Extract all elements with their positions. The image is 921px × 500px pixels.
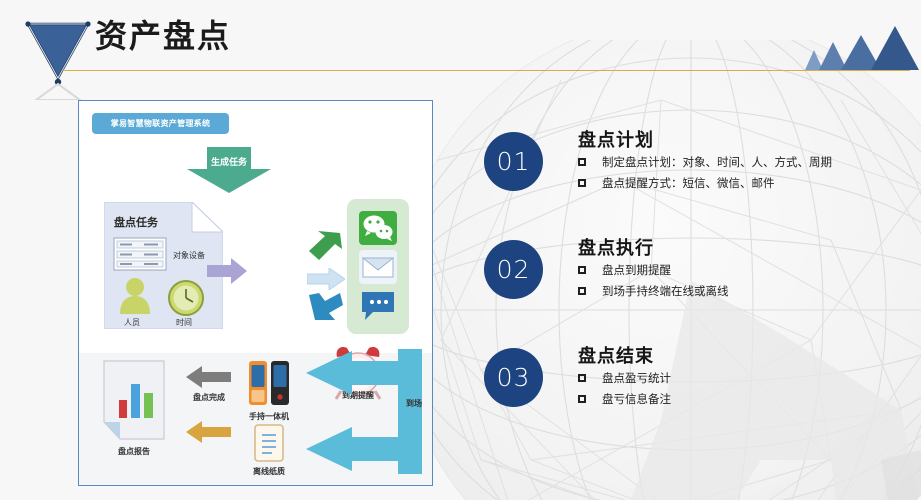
system-name-badge: 掌易智慧物联资产管理系统 xyxy=(92,113,229,134)
light-blue-right-arrow-icon xyxy=(307,268,345,290)
email-icon xyxy=(359,250,397,284)
handheld-terminal-icon xyxy=(247,359,291,407)
step-bullets: 制定盘点计划：对象、时间、人、方式、周期 盘点提醒方式：短信、微信、邮件 xyxy=(578,156,832,198)
checkbox-icon xyxy=(578,374,586,382)
list-item: 盘点盈亏统计 xyxy=(578,372,671,386)
bullet-text: 盘亏信息备注 xyxy=(602,393,671,407)
bullet-text: 盘点提醒方式：短信、微信、邮件 xyxy=(602,177,775,191)
sms-icon xyxy=(359,289,397,323)
step-title: 盘点计划 xyxy=(578,126,654,152)
slide-canvas: 资产盘点 掌易智慧物联资产管理系统 生成任务 xyxy=(0,0,921,500)
checkbox-icon xyxy=(578,287,586,295)
workflow-diagram-panel: 掌易智慧物联资产管理系统 生成任务 xyxy=(78,100,433,486)
list-item: 到场手持终端在线或离线 xyxy=(578,285,729,299)
blue-down-arrow-icon xyxy=(307,293,343,323)
report-label: 盘点报告 xyxy=(97,446,171,457)
bullet-text: 盘点盈亏统计 xyxy=(602,372,671,386)
generate-task-arrow: 生成任务 xyxy=(187,147,271,193)
list-item: 盘点提醒方式：短信、微信、邮件 xyxy=(578,177,832,191)
green-up-arrow-icon xyxy=(307,231,343,261)
bullet-text: 到场手持终端在线或离线 xyxy=(602,285,729,299)
list-item: 盘亏信息备注 xyxy=(578,393,671,407)
checkbox-icon xyxy=(578,395,586,403)
list-item: 制定盘点计划：对象、时间、人、方式、周期 xyxy=(578,156,832,170)
wechat-icon xyxy=(359,211,397,245)
offline-paper-icon xyxy=(254,424,284,462)
step-number-badge: 01 xyxy=(484,132,543,191)
handheld-label: 手持一体机 xyxy=(239,411,299,422)
step-bullets: 盘点盈亏统计 盘亏信息备注 xyxy=(578,372,671,414)
time-label: 时间 xyxy=(176,317,192,328)
generate-task-label: 生成任务 xyxy=(187,155,271,168)
inventory-report-icon xyxy=(103,360,165,440)
task-card-title: 盘点任务 xyxy=(114,214,158,230)
device-label: 对象设备 xyxy=(173,250,205,261)
bullet-text: 盘点到期提醒 xyxy=(602,264,671,278)
orange-left-arrow-icon xyxy=(186,421,231,443)
notification-channel-panel xyxy=(347,199,409,334)
inverted-triangle-logo xyxy=(18,8,98,100)
mountain-range-icon xyxy=(779,22,921,72)
person-label: 人员 xyxy=(124,317,140,328)
step-bullets: 盘点到期提醒 到场手持终端在线或离线 xyxy=(578,264,729,306)
gray-left-arrow-icon xyxy=(186,366,231,388)
checkbox-icon xyxy=(578,266,586,274)
done-label: 盘点完成 xyxy=(181,392,237,403)
bullet-text: 制定盘点计划：对象、时间、人、方式、周期 xyxy=(602,156,832,170)
checkbox-icon xyxy=(578,158,586,166)
page-title: 资产盘点 xyxy=(95,20,231,52)
inventory-task-card: 盘点任务 对象设备 人员 时间 xyxy=(104,202,223,329)
step-number-badge: 03 xyxy=(484,348,543,407)
paper-label: 离线纸质 xyxy=(239,466,299,477)
purple-right-arrow-icon xyxy=(207,258,247,284)
step-title: 盘点结束 xyxy=(578,342,654,368)
arrive-flow-arrow xyxy=(304,349,422,474)
list-item: 盘点到期提醒 xyxy=(578,264,729,278)
arrive-label: 到场 xyxy=(397,398,431,409)
step-title: 盘点执行 xyxy=(578,234,654,260)
step-number-badge: 02 xyxy=(484,240,543,299)
checkbox-icon xyxy=(578,179,586,187)
